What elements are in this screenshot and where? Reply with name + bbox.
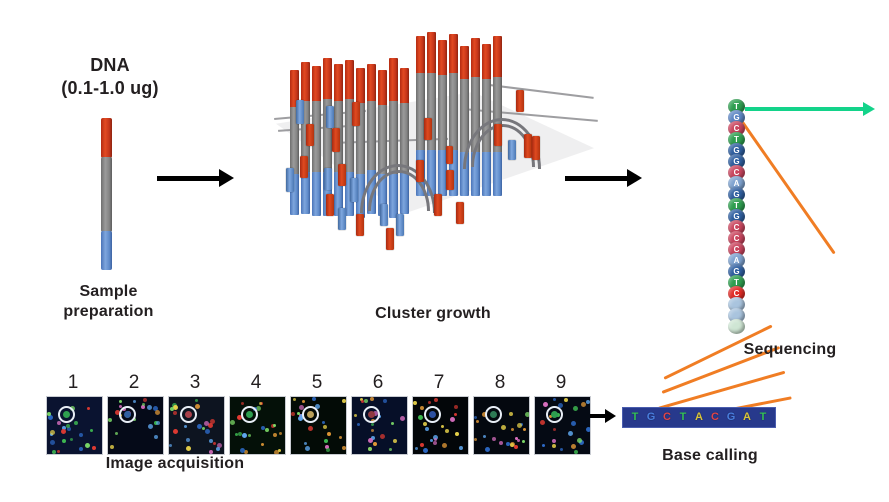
spot-highlight-ring bbox=[546, 406, 563, 423]
free-fragment bbox=[326, 106, 334, 128]
panel-number: 8 bbox=[485, 372, 515, 394]
free-fragment bbox=[424, 118, 432, 140]
fluorescent-spot bbox=[302, 400, 305, 403]
panel-number: 3 bbox=[180, 372, 210, 394]
fluorescent-spot bbox=[169, 444, 172, 447]
fluorescent-spot bbox=[173, 429, 178, 434]
fluorescent-spot bbox=[371, 429, 374, 432]
cluster-strand bbox=[323, 58, 332, 216]
fluorescent-spot bbox=[523, 428, 526, 431]
fluorescent-spot bbox=[454, 405, 458, 409]
fluorescent-spot bbox=[454, 413, 457, 416]
panel-number: 4 bbox=[241, 372, 271, 394]
fluorescent-spot bbox=[133, 400, 136, 403]
panel-number: 6 bbox=[363, 372, 393, 394]
fluorescent-spot bbox=[308, 426, 313, 431]
fluorescent-spot bbox=[209, 450, 213, 454]
free-fragment bbox=[356, 214, 364, 236]
fluorescent-spot bbox=[510, 443, 514, 447]
fluorescent-spot bbox=[154, 435, 158, 439]
fluorescent-spot bbox=[425, 427, 429, 431]
free-fragment bbox=[446, 170, 454, 190]
fluorescence-panel[interactable] bbox=[473, 396, 530, 455]
fluorescent-spot bbox=[305, 446, 310, 451]
fluorescent-spot bbox=[327, 432, 331, 436]
fluorescent-spot bbox=[433, 441, 437, 445]
fluorescence-panel[interactable] bbox=[46, 396, 103, 455]
fluorescent-spot bbox=[155, 410, 160, 415]
fluorescent-spot bbox=[373, 442, 377, 446]
free-fragment bbox=[516, 90, 524, 112]
fluorescent-spot bbox=[291, 412, 295, 416]
base-letter: A bbox=[691, 408, 707, 427]
fluorescent-spot bbox=[445, 429, 449, 433]
free-fragment bbox=[338, 164, 346, 186]
fluorescent-spot bbox=[273, 433, 277, 437]
fluorescent-spot bbox=[62, 439, 66, 443]
free-fragment bbox=[324, 168, 332, 190]
fluorescent-spot bbox=[230, 420, 235, 425]
fluorescence-panel[interactable] bbox=[290, 396, 347, 455]
fluorescent-spot bbox=[47, 412, 51, 416]
fluorescent-spot bbox=[186, 446, 191, 451]
fluorescent-spot bbox=[552, 444, 556, 448]
fluorescent-spot bbox=[391, 422, 394, 425]
free-fragment bbox=[456, 202, 464, 224]
fluorescent-spot bbox=[273, 424, 276, 427]
fluorescent-spot bbox=[577, 438, 582, 443]
fluorescent-spot bbox=[525, 412, 530, 417]
fluorescent-spot bbox=[553, 398, 556, 401]
fluorescent-spot bbox=[492, 437, 496, 441]
fluorescent-spot bbox=[428, 401, 431, 404]
free-fragment bbox=[332, 128, 340, 152]
fluorescent-spot bbox=[514, 445, 518, 449]
fluorescent-spot bbox=[442, 443, 447, 448]
free-fragment bbox=[416, 160, 424, 182]
fluorescent-spot bbox=[261, 426, 265, 430]
fluorescence-panel[interactable] bbox=[412, 396, 469, 455]
fluorescent-spot bbox=[380, 434, 385, 439]
fluorescent-spot bbox=[79, 447, 83, 451]
fluorescent-spot bbox=[418, 415, 423, 420]
spot-highlight-ring bbox=[363, 406, 380, 423]
fluorescent-spot bbox=[415, 447, 418, 450]
fluorescent-spot bbox=[261, 443, 264, 446]
base-letter: A bbox=[739, 408, 755, 427]
fluorescent-spot bbox=[509, 412, 513, 416]
fluorescent-spot bbox=[209, 439, 213, 443]
fluorescent-spot bbox=[342, 399, 346, 403]
fluorescent-spot bbox=[92, 446, 96, 450]
fluorescent-spot bbox=[147, 405, 152, 410]
fluorescent-spot bbox=[323, 425, 327, 429]
free-fragment bbox=[396, 214, 404, 236]
fluorescent-spot bbox=[413, 401, 417, 405]
fluorescent-spot bbox=[195, 399, 198, 402]
fluorescent-spot bbox=[195, 404, 200, 409]
fluorescent-spot bbox=[110, 445, 114, 449]
cluster-strand bbox=[290, 70, 299, 215]
base-letter: T bbox=[675, 408, 691, 427]
fluorescent-spot bbox=[368, 447, 372, 451]
free-fragment bbox=[380, 204, 388, 226]
fluorescent-spot bbox=[143, 398, 147, 402]
fluorescent-spot bbox=[108, 418, 112, 422]
free-fragment bbox=[338, 208, 346, 230]
base-letter: T bbox=[755, 408, 771, 427]
fluorescent-spot bbox=[115, 432, 118, 435]
cluster-growth-label: Cluster growth bbox=[333, 305, 533, 324]
cluster-strand bbox=[427, 32, 436, 196]
fluorescent-spot bbox=[423, 448, 428, 453]
fluorescent-spot bbox=[586, 427, 591, 432]
fluorescent-spot bbox=[499, 441, 503, 445]
free-fragment bbox=[508, 140, 516, 160]
dna-amount: (0.1-1.0 ug) bbox=[30, 78, 190, 99]
adapter-top-segment bbox=[101, 118, 112, 158]
base-letter: G bbox=[723, 408, 739, 427]
spot-highlight-ring bbox=[424, 406, 441, 423]
spot-highlight-ring bbox=[180, 406, 197, 423]
fluorescence-panel[interactable] bbox=[107, 396, 164, 455]
image-acquisition-label: Image acquisition bbox=[35, 455, 315, 474]
panel-number: 2 bbox=[119, 372, 149, 394]
fluorescent-spot bbox=[50, 430, 55, 435]
fluorescent-spot bbox=[170, 407, 174, 411]
fluorescent-spot bbox=[119, 400, 122, 403]
fluorescent-spot bbox=[571, 421, 576, 426]
panel-number: 7 bbox=[424, 372, 454, 394]
free-fragment bbox=[524, 134, 532, 158]
fluorescent-spot bbox=[342, 446, 346, 450]
panel-number: 1 bbox=[58, 372, 88, 394]
fluorescent-spot bbox=[216, 447, 220, 451]
free-fragment bbox=[300, 156, 308, 178]
fluorescent-spot bbox=[293, 398, 296, 401]
fluorescent-spot bbox=[339, 436, 342, 439]
fluorescent-spot bbox=[87, 407, 90, 410]
fluorescent-spot bbox=[197, 424, 202, 429]
free-fragment bbox=[352, 102, 360, 126]
fluorescent-spot bbox=[573, 406, 578, 411]
fluorescent-spot bbox=[52, 450, 56, 454]
cluster-strand bbox=[460, 46, 469, 196]
fluorescent-spot bbox=[85, 443, 90, 448]
cluster-growth-illustration bbox=[268, 18, 598, 293]
fluorescent-spot bbox=[515, 437, 518, 440]
fluorescent-spot bbox=[420, 443, 424, 447]
fluorescent-spot bbox=[61, 429, 66, 434]
spot-highlight-ring bbox=[485, 406, 502, 423]
fluorescent-spot bbox=[393, 439, 397, 443]
fluorescent-spot bbox=[586, 400, 590, 404]
cluster-strand bbox=[471, 38, 480, 196]
fluorescent-spot bbox=[459, 446, 463, 450]
insert-segment bbox=[101, 157, 112, 232]
fluorescent-spot bbox=[324, 439, 328, 443]
fluorescence-panel[interactable] bbox=[534, 396, 591, 455]
fluorescent-spot bbox=[434, 438, 437, 441]
spot-highlight-ring bbox=[241, 406, 258, 423]
free-fragment bbox=[296, 100, 304, 124]
fluorescent-spot bbox=[434, 398, 438, 402]
fluorescent-spot bbox=[186, 438, 190, 442]
fluorescent-spot bbox=[517, 423, 522, 428]
fluorescent-spot bbox=[441, 425, 444, 428]
fluorescent-spot bbox=[66, 424, 70, 428]
sample-preparation-strand bbox=[101, 118, 112, 270]
fluorescence-panel[interactable] bbox=[351, 396, 408, 455]
fluorescent-spot bbox=[522, 440, 525, 443]
fluorescent-spot bbox=[240, 448, 245, 453]
fluorescent-spot bbox=[79, 433, 83, 437]
fluorescent-spot bbox=[389, 448, 392, 451]
fluorescent-spot bbox=[57, 450, 60, 453]
fluorescent-spot bbox=[304, 442, 307, 445]
panel-number: 5 bbox=[302, 372, 332, 394]
free-fragment bbox=[434, 194, 442, 216]
fluorescent-spot bbox=[148, 424, 153, 429]
sequencing-label: Sequencing bbox=[700, 341, 880, 360]
fluorescent-spot bbox=[90, 429, 93, 432]
nucleotide-bead bbox=[728, 319, 745, 334]
free-fragment bbox=[326, 194, 334, 216]
fluorescent-spot bbox=[213, 442, 216, 445]
fluorescent-spot bbox=[279, 432, 282, 435]
fluorescent-spot bbox=[423, 422, 427, 426]
fluorescent-spot bbox=[50, 440, 55, 445]
dna-title: DNA bbox=[40, 55, 180, 76]
sequencing-illustration: TGCTGGCAGTGCCCAGTC bbox=[700, 95, 880, 345]
fluorescent-spot bbox=[400, 416, 405, 421]
fluorescent-spot bbox=[476, 420, 479, 423]
fluorescent-spot bbox=[357, 423, 360, 426]
fluorescent-spot bbox=[142, 403, 145, 406]
fluorescent-spot bbox=[210, 419, 215, 424]
fluorescence-panel[interactable] bbox=[168, 396, 225, 455]
spot-highlight-ring bbox=[58, 406, 75, 423]
fluorescent-spot bbox=[238, 432, 242, 436]
base-letter: T bbox=[627, 408, 643, 427]
fluorescent-spot bbox=[278, 449, 281, 452]
free-fragment bbox=[306, 124, 314, 146]
fluorescent-spot bbox=[354, 414, 357, 417]
fluorescence-panel[interactable] bbox=[229, 396, 286, 455]
fluorescent-spot bbox=[581, 402, 586, 407]
fluorescent-spot bbox=[173, 411, 177, 415]
base-letter: G bbox=[643, 408, 659, 427]
base-calling-sequence-strip: TGCTACGAT bbox=[622, 407, 776, 428]
fluorescent-spot bbox=[156, 421, 160, 425]
fluorescent-spot bbox=[259, 402, 262, 405]
free-fragment bbox=[286, 168, 294, 192]
fluorescent-spot bbox=[241, 402, 244, 405]
fluorescent-spot bbox=[511, 428, 514, 431]
nucleotide-bead-chain: TGCTGGCAGTGCCCAGTC bbox=[728, 99, 746, 339]
emission-ray bbox=[739, 118, 836, 255]
base-calling-label: Base calling bbox=[617, 447, 803, 466]
free-fragment bbox=[494, 124, 502, 146]
fluorescent-spot bbox=[74, 421, 78, 425]
panel-number: 9 bbox=[546, 372, 576, 394]
fluorescent-spot bbox=[265, 428, 269, 432]
fluorescent-spot bbox=[474, 438, 477, 441]
free-fragment bbox=[446, 146, 453, 164]
fluorescent-spot bbox=[57, 421, 61, 425]
spot-highlight-ring bbox=[302, 406, 319, 423]
fluorescent-spot bbox=[420, 406, 424, 410]
fluorescent-spot bbox=[204, 421, 209, 426]
fluorescent-spot bbox=[560, 448, 563, 451]
fluorescent-spot bbox=[205, 429, 210, 434]
fluorescent-spot bbox=[184, 425, 187, 428]
fluorescent-spot bbox=[370, 397, 374, 401]
fluorescent-spot bbox=[202, 427, 205, 430]
fluorescent-spot bbox=[553, 428, 556, 431]
fluorescent-spot bbox=[540, 420, 545, 425]
fluorescent-spot bbox=[371, 423, 374, 426]
fluorescent-spot bbox=[326, 448, 330, 452]
fluorescent-spot bbox=[383, 399, 387, 403]
adapter-bottom-segment bbox=[101, 231, 112, 270]
fluorescent-spot bbox=[455, 432, 459, 436]
fluorescent-spot bbox=[542, 444, 545, 447]
sample-preparation-label-line1: Sample bbox=[46, 283, 171, 302]
free-fragment bbox=[386, 228, 394, 250]
fluorescent-spot bbox=[483, 435, 486, 438]
fluorescent-spot bbox=[70, 438, 73, 441]
fluorescent-spot bbox=[248, 434, 251, 437]
fluorescent-spot bbox=[322, 421, 325, 424]
free-fragment bbox=[532, 136, 540, 160]
spot-highlight-ring bbox=[119, 406, 136, 423]
fluorescent-spot bbox=[552, 439, 556, 443]
fluorescent-spot bbox=[450, 417, 455, 422]
fluorescent-spot bbox=[430, 439, 433, 442]
free-fragment bbox=[350, 178, 358, 202]
fluorescent-spot bbox=[501, 425, 506, 430]
base-letter: C bbox=[659, 408, 675, 427]
fluorescent-spot bbox=[364, 399, 368, 403]
fluorescent-spot bbox=[242, 433, 247, 438]
fluorescent-spot bbox=[543, 402, 548, 407]
fluorescent-spot bbox=[312, 397, 316, 401]
cluster-strand bbox=[493, 36, 502, 196]
fluorescent-spot bbox=[571, 444, 576, 449]
fluorescent-spot bbox=[568, 431, 573, 436]
fluorescent-spot bbox=[564, 398, 568, 402]
fluorescent-spot bbox=[474, 416, 477, 419]
base-letter: C bbox=[707, 408, 723, 427]
sample-preparation-label-line2: preparation bbox=[40, 303, 177, 322]
fluorescent-spot bbox=[485, 447, 490, 452]
fluorescent-spot bbox=[574, 450, 578, 454]
